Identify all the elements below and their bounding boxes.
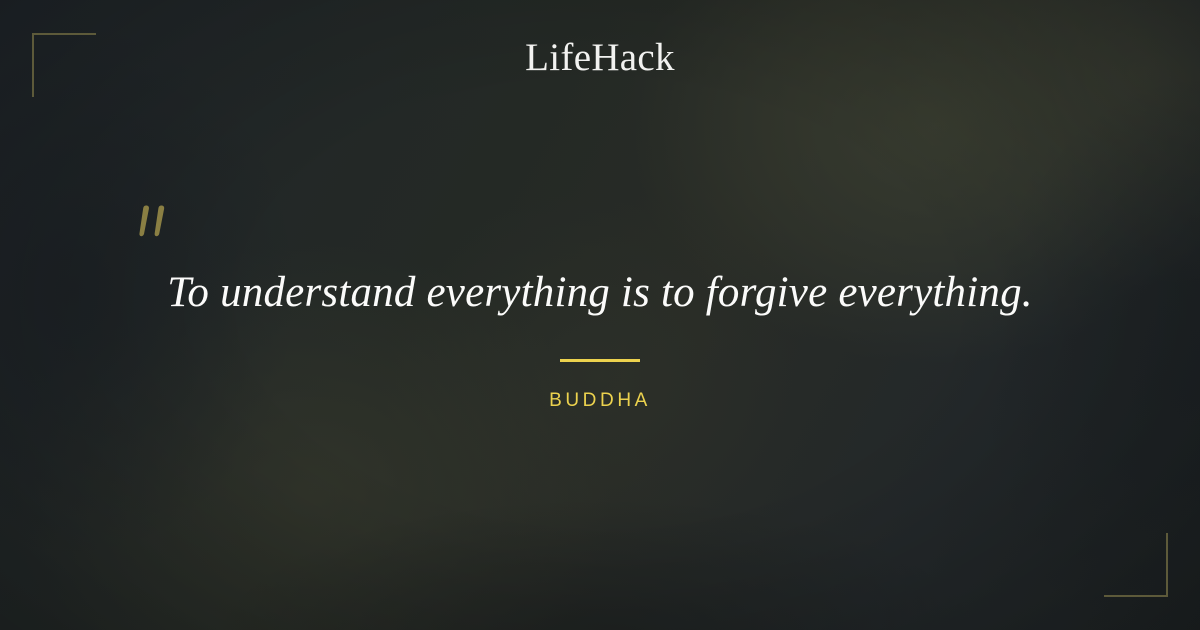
- quote-mark-icon: [133, 203, 179, 243]
- gold-divider: [560, 359, 640, 362]
- corner-bracket-bottom-right-icon: [1104, 533, 1168, 597]
- quote-author: BUDDHA: [0, 390, 1200, 412]
- brand-logo: LifeHack: [0, 38, 1200, 77]
- quote-body-text: To understand everything is to forgive e…: [60, 268, 1140, 319]
- quote-card: LifeHack To understand everything is to …: [0, 0, 1200, 630]
